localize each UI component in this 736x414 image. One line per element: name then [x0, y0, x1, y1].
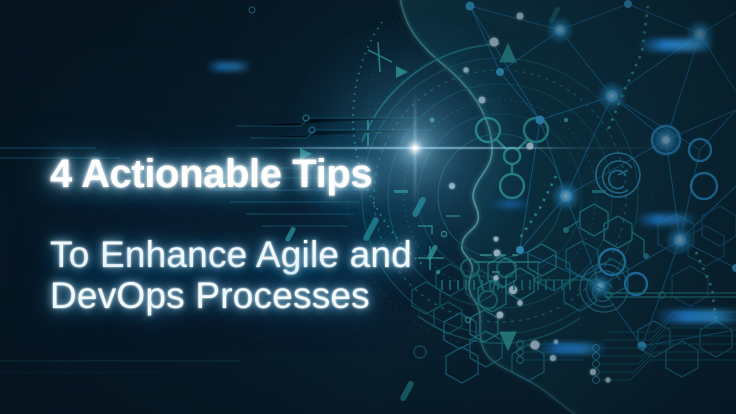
page-title: 4 Actionable Tips	[50, 152, 372, 197]
lens-flare-core	[413, 146, 417, 150]
data-pulse	[639, 39, 715, 51]
data-pulse	[537, 343, 607, 354]
data-pulse	[655, 310, 736, 323]
banner-graphic: 01 01 10 01 00 10 01 01 11 01 01 10 00 0…	[0, 0, 736, 414]
subtitle-line-1: To Enhance Agile and	[50, 234, 412, 276]
subtitle-line-2: DevOps Processes	[50, 275, 370, 317]
data-pulse	[636, 214, 698, 225]
data-pulse	[206, 62, 252, 71]
